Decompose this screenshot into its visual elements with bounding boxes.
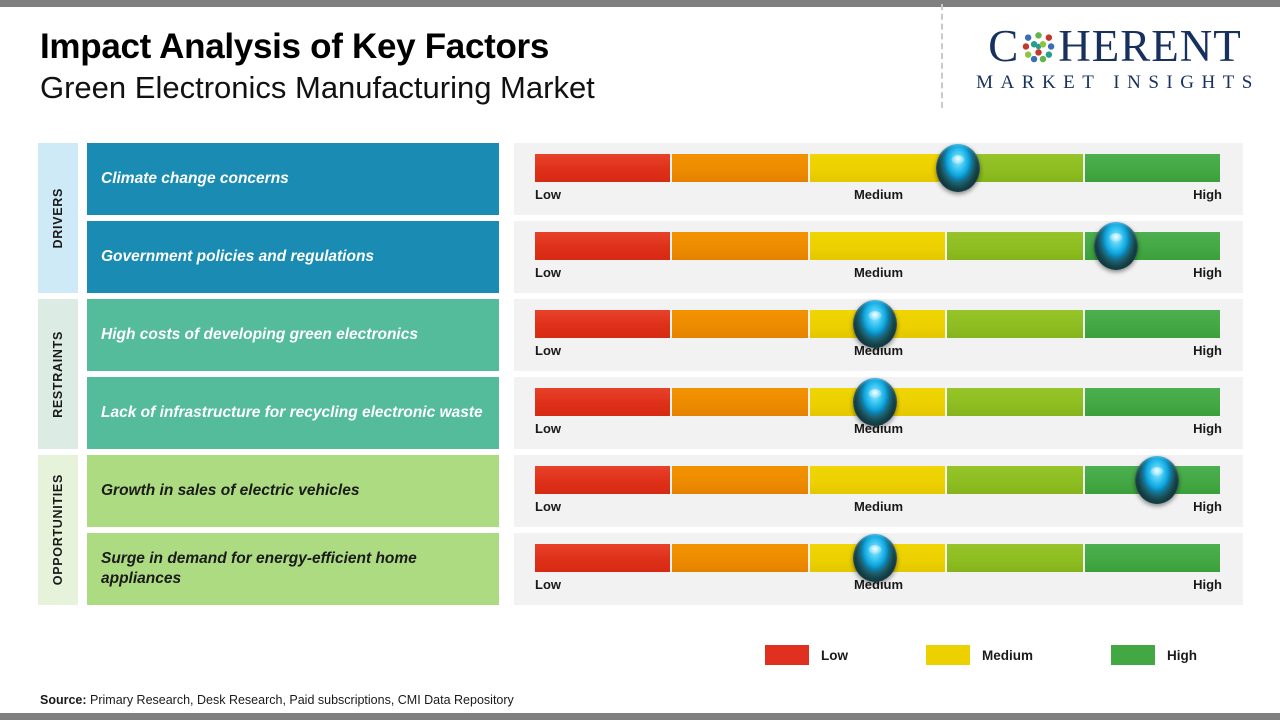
gauge-segment-2 xyxy=(672,388,809,416)
gauge-scale-labels: LowMediumHigh xyxy=(535,497,1222,523)
gauge-segment-4 xyxy=(947,232,1084,260)
gauge-label-low: Low xyxy=(535,265,561,280)
impact-gauge: LowMediumHigh xyxy=(514,377,1243,449)
gauge-scale-labels: LowMediumHigh xyxy=(535,185,1222,211)
gauge-segment-4 xyxy=(947,544,1084,572)
factor-row: Climate change concernsLowMediumHigh xyxy=(87,143,1243,215)
gauge-track xyxy=(535,466,1222,494)
gauge-segment-4 xyxy=(947,310,1084,338)
factor-label-box: Lack of infrastructure for recycling ele… xyxy=(87,377,499,449)
gauge-segment-1 xyxy=(535,310,672,338)
gauge-label-low: Low xyxy=(535,421,561,436)
gauge-label-high: High xyxy=(1193,577,1222,592)
gauge-label-high: High xyxy=(1193,499,1222,514)
category-label-restraints: RESTRAINTS xyxy=(38,299,78,449)
gauge-track xyxy=(535,310,1222,338)
logo-letter-c: C xyxy=(988,24,1019,69)
legend-swatch xyxy=(1111,645,1155,665)
page-title: Impact Analysis of Key Factors xyxy=(40,26,920,67)
factor-row: Government policies and regulationsLowMe… xyxy=(87,221,1243,293)
legend-label: Low xyxy=(821,648,848,663)
legend-item-high: High xyxy=(1111,645,1197,665)
gauge-label-high: High xyxy=(1193,187,1222,202)
category-label-text: DRIVERS xyxy=(51,188,65,248)
impact-gauge: LowMediumHigh xyxy=(514,299,1243,371)
top-border-strip xyxy=(0,0,1280,7)
source-text: Primary Research, Desk Research, Paid su… xyxy=(87,693,514,707)
impact-gauge: LowMediumHigh xyxy=(514,143,1243,215)
impact-board: DRIVERSClimate change concernsLowMediumH… xyxy=(38,143,1243,611)
gauge-track xyxy=(535,232,1222,260)
gauge-marker[interactable] xyxy=(936,144,980,192)
gauge-segment-2 xyxy=(672,544,809,572)
source-label: Source: xyxy=(40,693,87,707)
gauge-segment-5 xyxy=(1085,388,1222,416)
gauge-label-medium: Medium xyxy=(854,187,903,202)
factor-label-box: Surge in demand for energy-efficient hom… xyxy=(87,533,499,605)
gauge-segment-1 xyxy=(535,466,672,494)
legend-swatch xyxy=(926,645,970,665)
bottom-border-strip xyxy=(0,713,1280,720)
globe-dots-icon xyxy=(1020,28,1057,65)
factor-label-box: High costs of developing green electroni… xyxy=(87,299,499,371)
page-subtitle: Green Electronics Manufacturing Market xyxy=(40,69,920,108)
factor-row: Growth in sales of electric vehiclesLowM… xyxy=(87,455,1243,527)
gauge-marker[interactable] xyxy=(853,534,897,582)
gauge-segment-2 xyxy=(672,232,809,260)
gauge-track xyxy=(535,544,1222,572)
category-group-restraints: RESTRAINTSHigh costs of developing green… xyxy=(38,299,1243,449)
factor-label-text: Climate change concerns xyxy=(101,169,289,189)
gauge-label-high: High xyxy=(1193,265,1222,280)
legend: LowMediumHigh xyxy=(765,645,1197,665)
legend-item-medium: Medium xyxy=(926,645,1033,665)
company-logo: C HERENT MARKET INSIGHTS xyxy=(965,24,1265,94)
category-label-text: OPPORTUNITIES xyxy=(51,474,65,585)
gauge-segment-3 xyxy=(810,232,947,260)
factor-label-text: Growth in sales of electric vehicles xyxy=(101,481,359,501)
category-label-drivers: DRIVERS xyxy=(38,143,78,293)
gauge-label-high: High xyxy=(1193,421,1222,436)
gauge-track xyxy=(535,388,1222,416)
legend-label: High xyxy=(1167,648,1197,663)
category-group-drivers: DRIVERSClimate change concernsLowMediumH… xyxy=(38,143,1243,293)
gauge-segment-2 xyxy=(672,310,809,338)
gauge-label-low: Low xyxy=(535,187,561,202)
factor-label-text: Surge in demand for energy-efficient hom… xyxy=(101,549,485,589)
gauge-segment-1 xyxy=(535,544,672,572)
category-rows: Climate change concernsLowMediumHighGove… xyxy=(87,143,1243,293)
category-rows: High costs of developing green electroni… xyxy=(87,299,1243,449)
gauge-segment-3 xyxy=(810,154,947,182)
gauge-segment-5 xyxy=(1085,544,1222,572)
category-label-text: RESTRAINTS xyxy=(51,331,65,418)
gauge-label-medium: Medium xyxy=(854,265,903,280)
impact-gauge: LowMediumHigh xyxy=(514,221,1243,293)
source-note: Source: Primary Research, Desk Research,… xyxy=(40,693,514,707)
factor-label-box: Growth in sales of electric vehicles xyxy=(87,455,499,527)
factor-row: Surge in demand for energy-efficient hom… xyxy=(87,533,1243,605)
gauge-marker[interactable] xyxy=(1094,222,1138,270)
gauge-segment-3 xyxy=(810,466,947,494)
gauge-segment-2 xyxy=(672,154,809,182)
impact-gauge: LowMediumHigh xyxy=(514,455,1243,527)
factor-row: Lack of infrastructure for recycling ele… xyxy=(87,377,1243,449)
factor-row: High costs of developing green electroni… xyxy=(87,299,1243,371)
gauge-segment-1 xyxy=(535,154,672,182)
legend-swatch xyxy=(765,645,809,665)
factor-label-text: High costs of developing green electroni… xyxy=(101,325,418,345)
gauge-segment-4 xyxy=(947,388,1084,416)
factor-label-box: Climate change concerns xyxy=(87,143,499,215)
gauge-label-low: Low xyxy=(535,343,561,358)
logo-wordmark: C HERENT xyxy=(965,24,1265,69)
factor-label-text: Lack of infrastructure for recycling ele… xyxy=(101,403,483,423)
category-group-opportunities: OPPORTUNITIESGrowth in sales of electric… xyxy=(38,455,1243,605)
gauge-segment-4 xyxy=(947,466,1084,494)
category-rows: Growth in sales of electric vehiclesLowM… xyxy=(87,455,1243,605)
gauge-marker[interactable] xyxy=(1135,456,1179,504)
gauge-segment-5 xyxy=(1085,310,1222,338)
category-label-opportunities: OPPORTUNITIES xyxy=(38,455,78,605)
gauge-marker[interactable] xyxy=(853,300,897,348)
legend-item-low: Low xyxy=(765,645,848,665)
gauge-segment-1 xyxy=(535,388,672,416)
logo-word-herent: HERENT xyxy=(1058,24,1241,69)
gauge-label-low: Low xyxy=(535,499,561,514)
gauge-segment-1 xyxy=(535,232,672,260)
impact-gauge: LowMediumHigh xyxy=(514,533,1243,605)
gauge-label-high: High xyxy=(1193,343,1222,358)
gauge-track xyxy=(535,154,1222,182)
gauge-label-low: Low xyxy=(535,577,561,592)
factor-label-box: Government policies and regulations xyxy=(87,221,499,293)
factor-label-text: Government policies and regulations xyxy=(101,247,374,267)
gauge-segment-2 xyxy=(672,466,809,494)
gauge-marker[interactable] xyxy=(853,378,897,426)
gauge-label-medium: Medium xyxy=(854,499,903,514)
header-divider xyxy=(941,4,943,108)
legend-label: Medium xyxy=(982,648,1033,663)
header: Impact Analysis of Key Factors Green Ele… xyxy=(40,26,920,108)
logo-tagline: MARKET INSIGHTS xyxy=(971,72,1265,94)
gauge-segment-5 xyxy=(1085,154,1222,182)
